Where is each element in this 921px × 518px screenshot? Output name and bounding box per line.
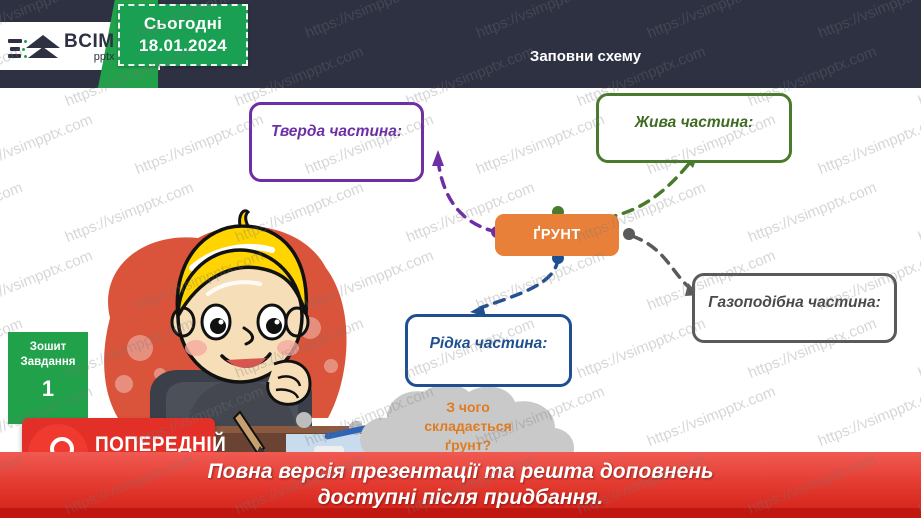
- brand-logo: BCIM pptx: [8, 28, 128, 66]
- node-center-label: ҐРУНТ: [533, 227, 580, 243]
- graduation-cap-icon: [8, 30, 60, 64]
- node-living-label: Жива частина:: [635, 114, 754, 132]
- node-solid-label: Тверда частина:: [271, 123, 402, 141]
- node-gaseous-label: Газоподібна частина:: [708, 294, 880, 312]
- date-value: 18.01.2024: [139, 36, 227, 56]
- node-center-soil[interactable]: ҐРУНТ: [495, 214, 619, 256]
- node-living-part[interactable]: Жива частина:: [596, 93, 792, 163]
- workbook-label: Зошит: [8, 340, 88, 355]
- diagram-canvas: З чого складається ґрунт?: [0, 88, 921, 458]
- logo-subtitle: pptx: [64, 52, 115, 63]
- task-label: Завдання: [8, 355, 88, 370]
- node-liquid-label: Рідка частина:: [430, 335, 548, 353]
- task-number: 1: [8, 376, 88, 402]
- slide-root: BCIM pptx Сьогодні 18.01.2024 Заповни сх…: [0, 0, 921, 518]
- banner-base-strip: [0, 508, 921, 518]
- node-liquid-part[interactable]: Рідка частина:: [405, 314, 572, 387]
- node-gaseous-part[interactable]: Газоподібна частина:: [692, 273, 897, 343]
- banner-line-1: Повна версія презентації та решта доповн…: [208, 459, 714, 485]
- slide-title-bar: Заповни схему: [258, 36, 913, 76]
- page-title: Заповни схему: [530, 48, 641, 65]
- node-solid-part[interactable]: Тверда частина:: [249, 102, 424, 182]
- logo-name: BCIM: [64, 32, 115, 51]
- date-badge: Сьогодні 18.01.2024: [118, 4, 248, 66]
- today-label: Сьогодні: [144, 14, 222, 34]
- workbook-task-tab: Зошит Завдання 1: [8, 332, 88, 424]
